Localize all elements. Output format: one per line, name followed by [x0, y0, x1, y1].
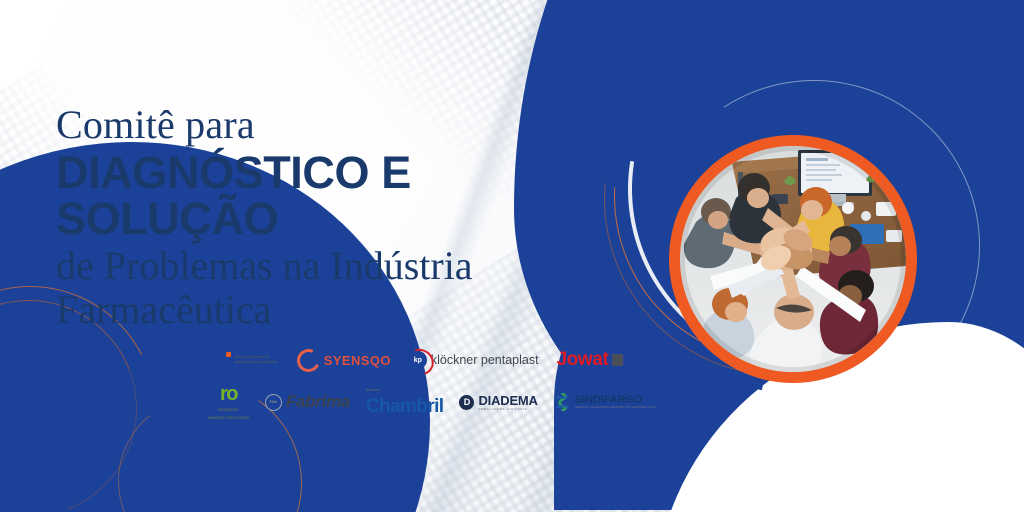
diadema-wordmark: DIADEMA: [478, 394, 537, 407]
diadema-tagline: EMBALAGENS FLEXIVEIS: [478, 407, 537, 411]
fma-badge-icon: FMA: [265, 394, 282, 411]
logo-chambril: Suzano Chambril: [366, 388, 444, 416]
promotional-banner: Comitê para DIAGNÓSTICO E SOLUÇÃO de Pro…: [0, 0, 1024, 512]
chambril-superbrand: Suzano: [366, 388, 381, 392]
logo-senai: SENAI Serviço Nacional de Aprendizagem I…: [160, 347, 279, 373]
sponsor-logo-row-2: ro ROBATECH ADHESIVE APPLICATION FMA Fab…: [160, 384, 660, 420]
senai-tagline: Serviço Nacional de Aprendizagem Industr…: [235, 355, 279, 365]
jowat-wordmark: Jowat: [557, 349, 609, 371]
syensqo-wordmark: SYENSQO: [324, 353, 391, 368]
fabrima-wordmark: Fabrima: [286, 392, 350, 412]
headline-line-1: Comitê para: [56, 104, 636, 146]
sponsor-logos: SENAI Serviço Nacional de Aprendizagem I…: [160, 342, 660, 420]
kloeckner-wordmark: klöckner pentaplast: [431, 353, 539, 367]
logo-sindifargo: SINDIFARGO SINDICATO DA INDUSTRIA DE PRO…: [554, 393, 656, 411]
logo-diadema: D DIADEMA EMBALAGENS FLEXIVEIS: [459, 394, 537, 411]
diadema-monogram-icon: D: [459, 395, 474, 410]
kp-swoosh-icon: [402, 344, 439, 380]
senai-accent-icon: [226, 352, 231, 357]
sindifargo-tagline: SINDICATO DA INDUSTRIA DE PRODUTOS FARMA…: [575, 406, 656, 410]
robatech-tagline: ADHESIVE APPLICATION: [208, 416, 249, 420]
headline-line-4: Farmacêutica: [56, 289, 636, 331]
logo-jowat: Jowat: [557, 349, 624, 371]
team-photo-ring: [669, 135, 917, 383]
team-photo: [680, 146, 906, 372]
logo-robatech: ro ROBATECH ADHESIVE APPLICATION: [208, 384, 249, 421]
headline: Comitê para DIAGNÓSTICO E SOLUÇÃO de Pro…: [56, 104, 636, 330]
robatech-label: ROBATECH: [219, 408, 238, 412]
syensqo-swirl-icon: [294, 345, 323, 374]
kp-monogram-icon: kp: [409, 351, 427, 369]
logo-kloeckner-pentaplast: kp klöckner pentaplast: [409, 351, 539, 369]
logo-fabrima: FMA Fabrima: [265, 392, 350, 412]
chambril-wordmark: Chambril: [366, 397, 444, 416]
headline-line-3: de Problemas na Indústria: [56, 245, 636, 287]
robatech-mark: ro: [220, 384, 237, 404]
headline-line-2: DIAGNÓSTICO E SOLUÇÃO: [56, 150, 636, 244]
logo-syensqo: SYENSQO: [297, 349, 391, 372]
senai-wordmark: SENAI: [160, 347, 225, 373]
sindifargo-caduceus-icon: [554, 393, 571, 411]
jowat-square-icon: [612, 354, 623, 366]
sponsor-logo-row-1: SENAI Serviço Nacional de Aprendizagem I…: [160, 342, 660, 378]
